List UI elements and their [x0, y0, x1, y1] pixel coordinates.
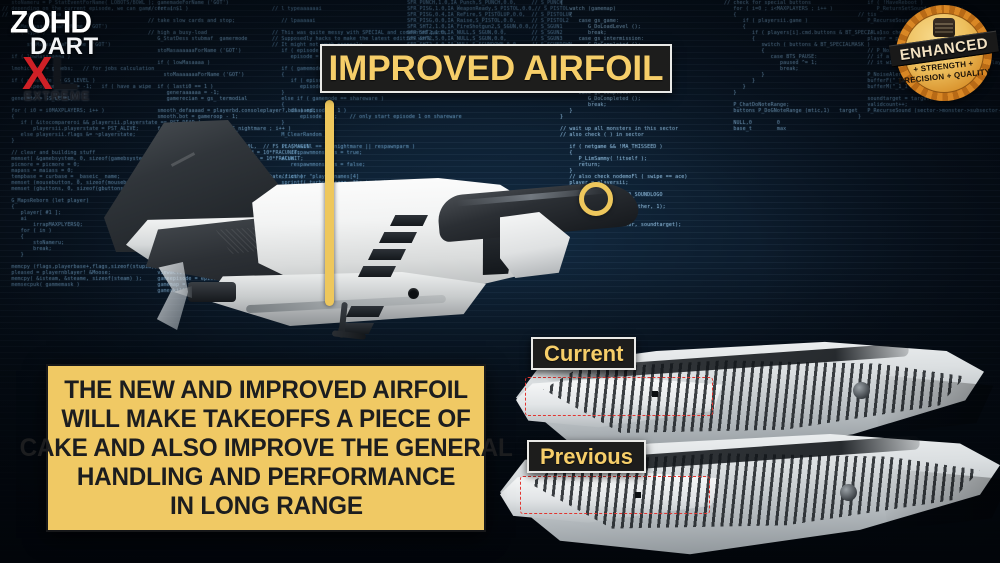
vent-chevron	[358, 266, 396, 277]
wing-highlight-box	[520, 476, 710, 514]
description-callout: THE NEW AND IMPROVED AIRFOIL WILL MAKE T…	[46, 364, 486, 532]
label-current-text: Current	[544, 341, 623, 367]
enhanced-badge: ENHANCED + STRENGTH + PRECISION + QUALIT…	[896, 5, 992, 101]
callout-line-5: IN LONG RANGE	[170, 492, 363, 521]
vent-chevron	[390, 215, 428, 226]
callout-line-2: WILL MAKE TAKEOFFS A PIECE OF	[61, 405, 470, 434]
title-banner: IMPROVED AIRFOIL	[320, 44, 672, 93]
fist-icon	[933, 18, 955, 37]
airfoil-pointer-line	[325, 100, 334, 306]
wing-highlight-box	[525, 377, 712, 416]
airfoil-highlight-ring	[579, 182, 613, 216]
vent-chevron	[379, 232, 417, 243]
wing-mount-knob	[840, 484, 857, 501]
wing-mount-knob	[853, 382, 870, 399]
label-previous: Previous	[527, 440, 646, 473]
callout-line-4: HANDLING AND PERFORMANCE	[77, 463, 455, 492]
page-title: IMPROVED AIRFOIL	[328, 49, 663, 89]
wing-tip-shadow	[880, 468, 1000, 533]
brand-logo: ZOHD DART XL EXTREME	[6, 6, 128, 104]
propeller	[146, 262, 188, 330]
fuselage-port-hole	[408, 288, 419, 299]
label-current: Current	[531, 337, 636, 370]
callout-line-1: THE NEW AND IMPROVED AIRFOIL	[64, 376, 468, 405]
promo-graphic: // scaling me; stoNameru = P_StatEventFo…	[0, 0, 1000, 563]
label-previous-text: Previous	[540, 444, 633, 470]
callout-line-3: CAKE AND ALSO IMPROVE THE GENERAL	[19, 434, 512, 463]
vent-chevron	[346, 306, 384, 317]
vent-chevron	[368, 249, 406, 260]
motor-housing	[188, 282, 236, 302]
logo-extreme-text: EXTREME	[24, 89, 90, 103]
